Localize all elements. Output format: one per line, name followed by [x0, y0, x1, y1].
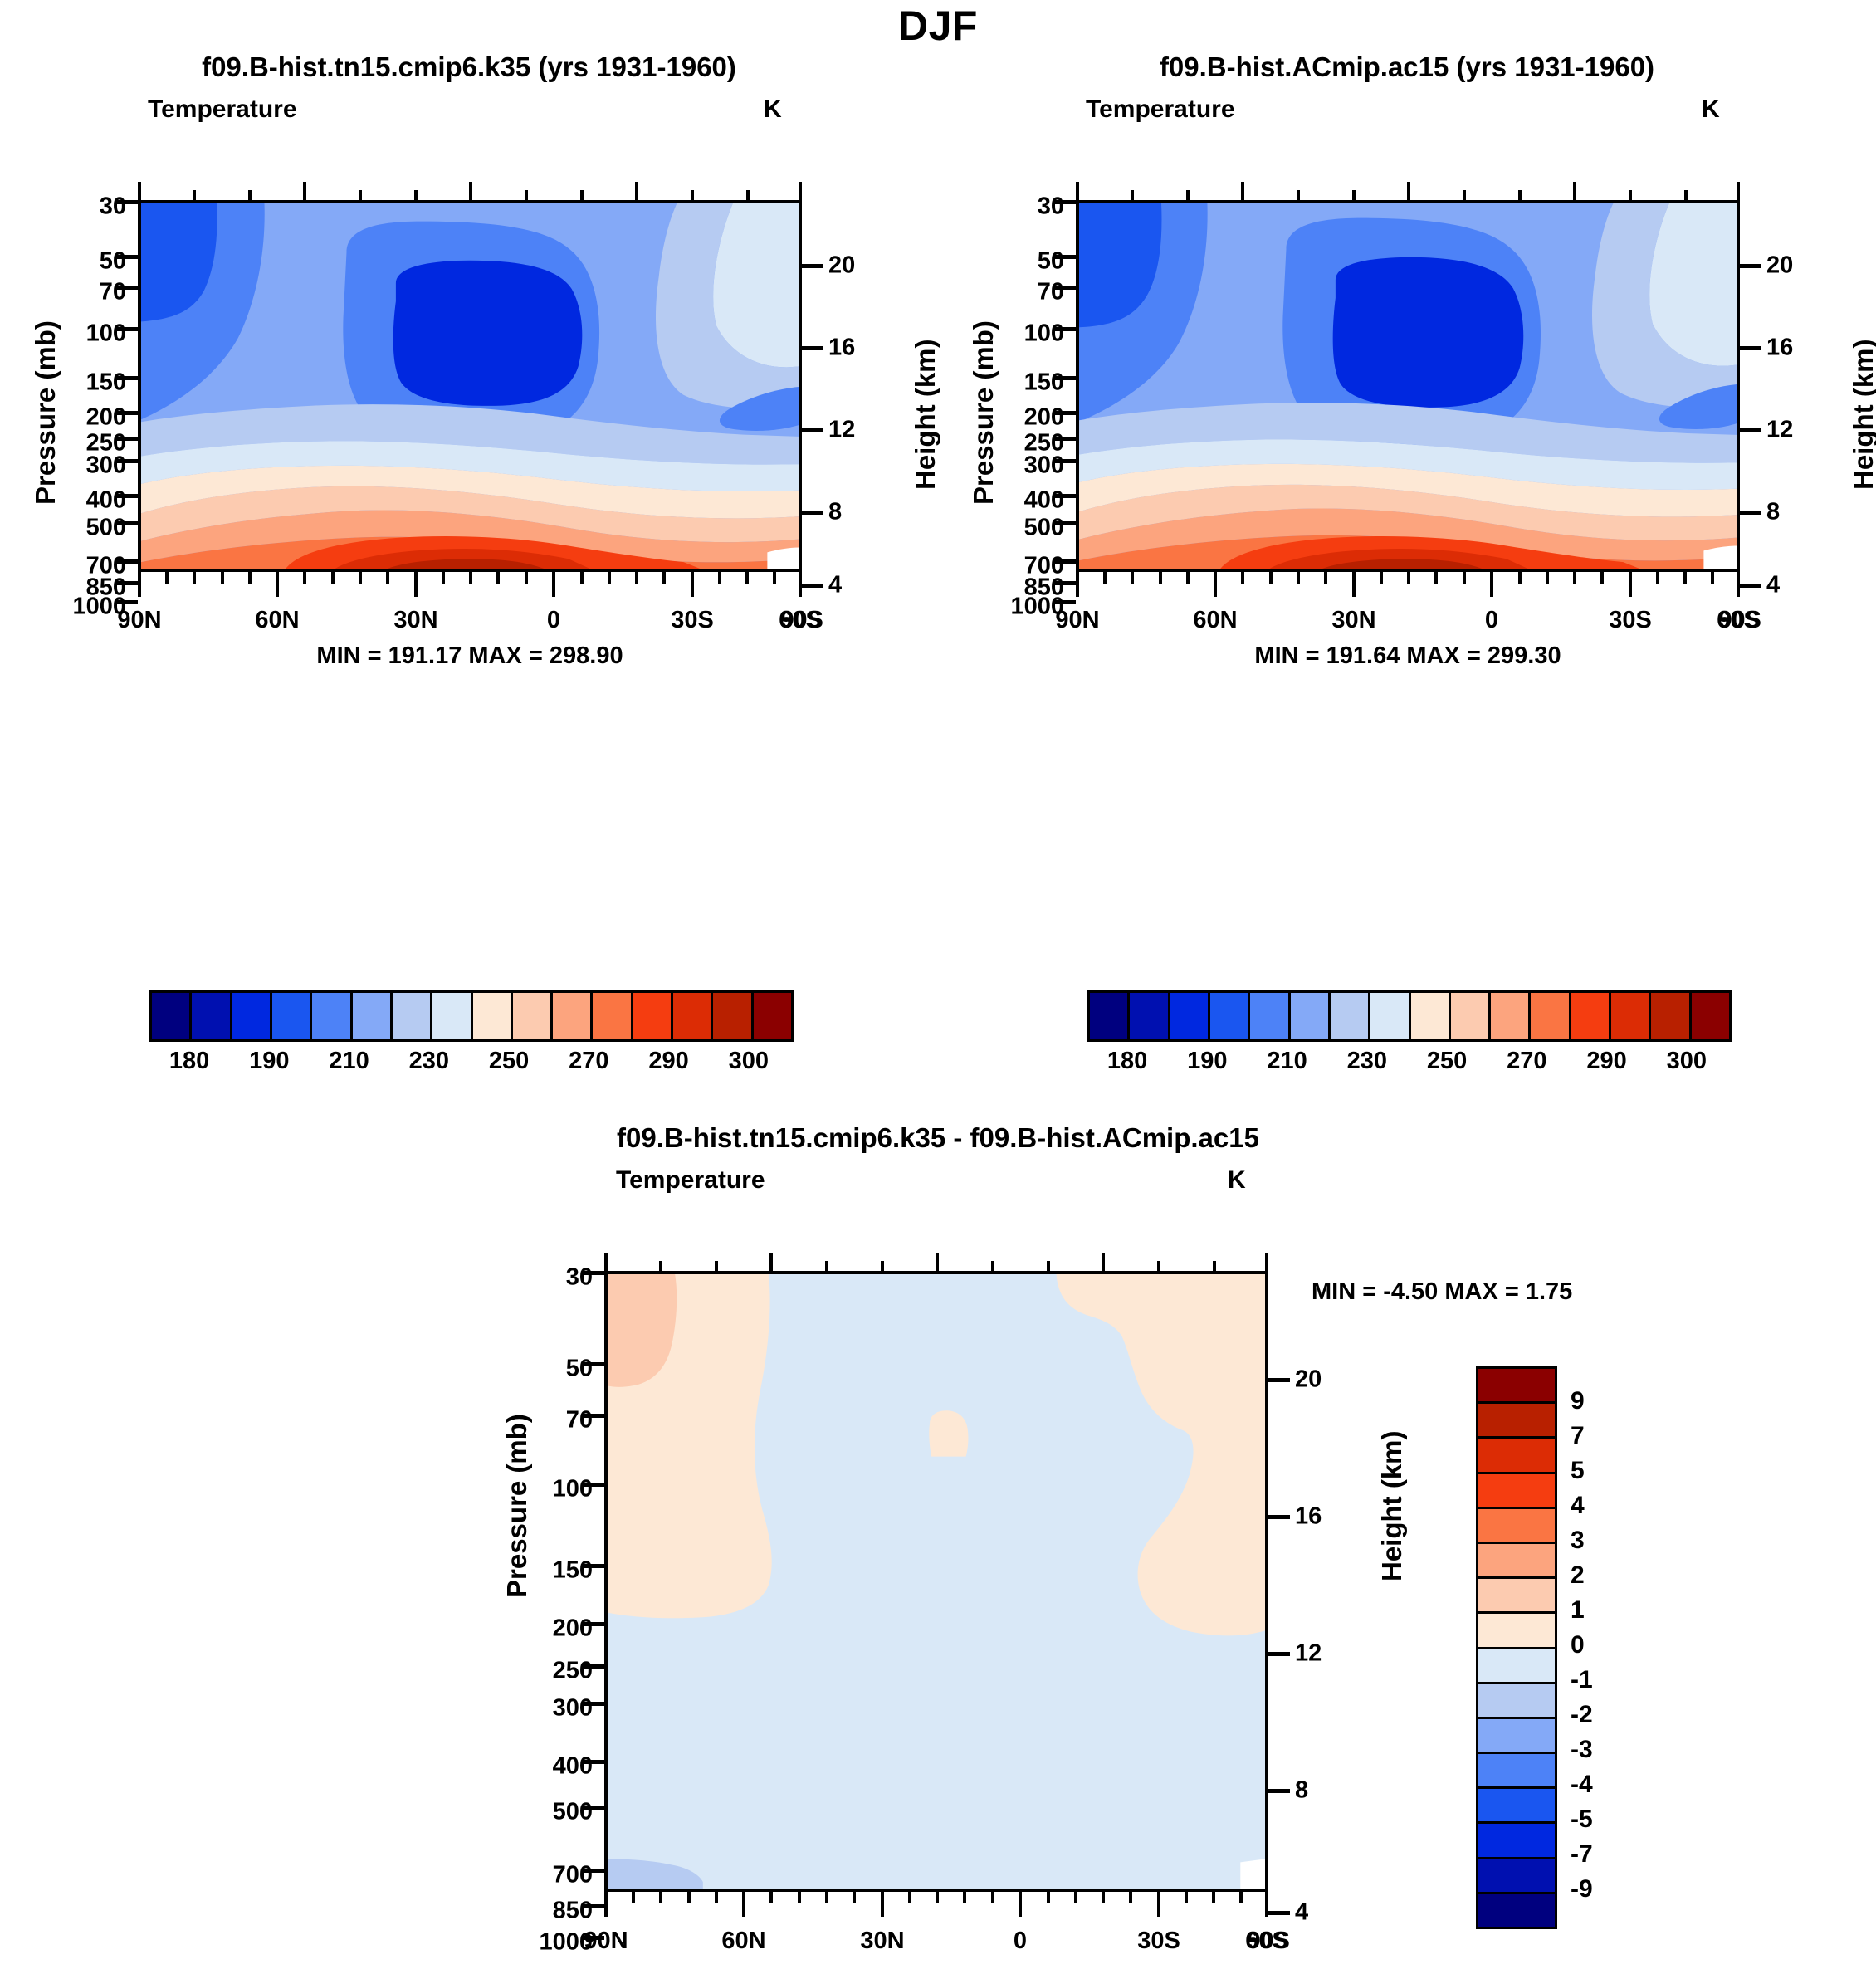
panel-top-left-height-axis-name: Height (km)	[910, 340, 941, 491]
ytick-150: 150	[988, 369, 1064, 397]
colorbar-swatch-11	[593, 993, 633, 1039]
ytick-50: 50	[516, 1356, 593, 1383]
diff-colorbar-swatch-12	[1478, 1789, 1555, 1824]
diff-colorbar-swatch-11	[1478, 1754, 1555, 1789]
ytick-200: 200	[50, 404, 126, 432]
ytick-70: 70	[50, 279, 126, 306]
ytick-200: 200	[988, 404, 1064, 432]
xtick-60N: 60N	[1193, 607, 1237, 634]
ytick-100: 100	[988, 320, 1064, 348]
diff-colorbar-swatch-6	[1478, 1579, 1555, 1614]
panel-bottom-diff-colorbar-labels: 97543210-1-2-3-4-5-7-9	[1571, 1366, 1645, 1924]
colorbar-tick-180: 180	[169, 1048, 209, 1075]
panel-top-left-colorbar	[149, 990, 794, 1042]
ytick-30: 30	[988, 193, 1064, 221]
htick-20: 20	[828, 252, 855, 280]
colorbar-swatch-13	[1611, 993, 1651, 1039]
diff-colorbar-swatch-7	[1478, 1614, 1555, 1649]
ytick-100: 100	[516, 1476, 593, 1503]
ytick-1000: 1000	[963, 594, 1064, 621]
htick-4: 4	[1295, 1899, 1308, 1927]
htick-20: 20	[1295, 1366, 1322, 1394]
panel-bottom-diff-plot	[604, 1271, 1268, 1892]
ytick-30: 30	[516, 1264, 593, 1292]
htick-16: 16	[1295, 1503, 1322, 1531]
panel-top-left-title: f09.B-hist.tn15.cmip6.k35 (yrs 1931-1960…	[0, 51, 938, 83]
htick-16: 16	[1766, 335, 1793, 362]
xtick-30N: 30N	[1331, 607, 1375, 634]
colorbar-swatch-10	[1491, 993, 1531, 1039]
diff-colorbar-tick-3: 3	[1571, 1527, 1585, 1555]
diff-colorbar-tick-neg5: -5	[1571, 1806, 1593, 1834]
panel-bottom-diff-unit-label: K	[1228, 1166, 1246, 1195]
colorbar-tick-190: 190	[249, 1048, 289, 1075]
ytick-100: 100	[50, 320, 126, 348]
diff-colorbar-tick-0: 0	[1571, 1631, 1585, 1659]
panel-top-right-height-axis-name: Height (km)	[1848, 340, 1876, 491]
colorbar-swatch-4	[1250, 993, 1290, 1039]
panel-top-left-unit-label: K	[764, 95, 782, 124]
xtick-30S: 30S	[1137, 1928, 1180, 1955]
colorbar-tick-250: 250	[1427, 1048, 1467, 1075]
diff-colorbar-tick-5: 5	[1571, 1457, 1585, 1485]
htick-8: 8	[1295, 1777, 1308, 1805]
panel-top-right-colorbar-labels: 180190210230250270290300	[1087, 1048, 1727, 1077]
ytick-30: 30	[50, 193, 126, 221]
colorbar-swatch-2	[1170, 993, 1210, 1039]
htick-4: 4	[1766, 572, 1780, 599]
ytick-300: 300	[50, 452, 126, 480]
colorbar-tick-210: 210	[1267, 1048, 1307, 1075]
ytick-250: 250	[516, 1658, 593, 1685]
diff-colorbar-swatch-2	[1478, 1439, 1555, 1473]
xtick-0: 0	[547, 607, 560, 634]
htick-12: 12	[828, 417, 855, 444]
panel-bottom-diff-title: f09.B-hist.tn15.cmip6.k35 - f09.B-hist.A…	[315, 1122, 1561, 1154]
colorbar-swatch-9	[1451, 993, 1491, 1039]
colorbar-swatch-15	[1692, 993, 1729, 1039]
colorbar-swatch-0	[152, 993, 192, 1039]
diff-colorbar-swatch-14	[1478, 1859, 1555, 1894]
colorbar-swatch-3	[1210, 993, 1250, 1039]
diff-colorbar-swatch-5	[1478, 1544, 1555, 1579]
colorbar-tick-190: 190	[1187, 1048, 1227, 1075]
colorbar-swatch-8	[473, 993, 513, 1039]
colorbar-swatch-1	[1130, 993, 1170, 1039]
diff-colorbar-tick-7: 7	[1571, 1422, 1585, 1450]
colorbar-swatch-7	[1370, 993, 1410, 1039]
ytick-500: 500	[988, 515, 1064, 542]
colorbar-swatch-8	[1411, 993, 1451, 1039]
colorbar-tick-270: 270	[1507, 1048, 1546, 1075]
colorbar-swatch-0	[1090, 993, 1130, 1039]
colorbar-swatch-9	[513, 993, 553, 1039]
xtick-30S: 30S	[671, 607, 714, 634]
colorbar-swatch-12	[633, 993, 673, 1039]
htick-12: 12	[1766, 417, 1793, 444]
panel-bottom-diff-minmax: MIN = -4.50 MAX = 1.75	[1312, 1278, 1826, 1306]
ytick-400: 400	[50, 487, 126, 515]
panel-top-left-xtick-90S: 90S	[780, 607, 823, 634]
xtick-0: 0	[1014, 1928, 1027, 1955]
panel-top-left-plot	[138, 200, 802, 572]
colorbar-tick-210: 210	[329, 1048, 369, 1075]
colorbar-tick-290: 290	[1586, 1048, 1626, 1075]
ytick-50: 50	[988, 248, 1064, 276]
panel-top-right-minmax: MIN = 191.64 MAX = 299.30	[1076, 643, 1740, 670]
diff-colorbar-swatch-13	[1478, 1824, 1555, 1859]
ytick-70: 70	[516, 1407, 593, 1434]
colorbar-swatch-12	[1571, 993, 1611, 1039]
htick-16: 16	[828, 335, 855, 362]
ytick-300: 300	[516, 1695, 593, 1722]
htick-8: 8	[1766, 499, 1780, 526]
colorbar-swatch-15	[754, 993, 791, 1039]
figure-title: DJF	[0, 2, 1876, 50]
colorbar-swatch-1	[192, 993, 232, 1039]
colorbar-swatch-5	[353, 993, 393, 1039]
colorbar-swatch-6	[393, 993, 432, 1039]
diff-colorbar-swatch-4	[1478, 1509, 1555, 1544]
diff-colorbar-swatch-9	[1478, 1684, 1555, 1719]
diff-colorbar-tick-2: 2	[1571, 1561, 1585, 1590]
panel-bottom-diff-height-axis-name: Height (km)	[1376, 1431, 1408, 1582]
panel-top-right-plot	[1076, 200, 1740, 572]
colorbar-tick-230: 230	[1347, 1048, 1387, 1075]
ytick-1000: 1000	[491, 1929, 593, 1957]
ytick-700: 700	[516, 1862, 593, 1889]
colorbar-swatch-6	[1331, 993, 1370, 1039]
colorbar-swatch-14	[713, 993, 753, 1039]
colorbar-tick-300: 300	[1667, 1048, 1707, 1075]
panel-bottom-diff-colorbar	[1476, 1366, 1557, 1929]
panel-bottom-diff-variable-label: Temperature	[616, 1166, 765, 1195]
ytick-400: 400	[988, 487, 1064, 515]
diff-colorbar-swatch-1	[1478, 1404, 1555, 1439]
colorbar-tick-300: 300	[729, 1048, 769, 1075]
diff-colorbar-tick-neg2: -2	[1571, 1701, 1593, 1729]
diff-colorbar-tick-neg9: -9	[1571, 1875, 1593, 1903]
panel-top-right-colorbar	[1087, 990, 1732, 1042]
panel-top-right-xtick-90S: 90S	[1718, 607, 1761, 634]
xtick-90N: 90N	[584, 1928, 628, 1955]
diff-colorbar-swatch-15	[1478, 1894, 1555, 1927]
htick-4: 4	[828, 572, 842, 599]
colorbar-swatch-5	[1291, 993, 1331, 1039]
panel-top-right-variable-label: Temperature	[1086, 95, 1235, 124]
panel-top-left-colorbar-labels: 180190210230250270290300	[149, 1048, 789, 1077]
htick-12: 12	[1295, 1640, 1322, 1668]
ytick-70: 70	[988, 279, 1064, 306]
colorbar-swatch-10	[553, 993, 593, 1039]
ytick-50: 50	[50, 248, 126, 276]
xtick-30S: 30S	[1609, 607, 1652, 634]
ytick-500: 500	[50, 515, 126, 542]
xtick-0: 0	[1485, 607, 1498, 634]
ytick-300: 300	[988, 452, 1064, 480]
xtick-60N: 60N	[255, 607, 299, 634]
diff-colorbar-swatch-0	[1478, 1369, 1555, 1404]
htick-20: 20	[1766, 252, 1793, 280]
colorbar-tick-290: 290	[648, 1048, 688, 1075]
colorbar-swatch-2	[232, 993, 272, 1039]
diff-colorbar-swatch-8	[1478, 1649, 1555, 1684]
diff-colorbar-tick-neg3: -3	[1571, 1736, 1593, 1764]
colorbar-tick-180: 180	[1107, 1048, 1147, 1075]
colorbar-tick-230: 230	[409, 1048, 449, 1075]
xtick-90N: 90N	[117, 607, 161, 634]
colorbar-swatch-7	[432, 993, 472, 1039]
colorbar-swatch-4	[312, 993, 352, 1039]
diff-colorbar-tick-neg1: -1	[1571, 1666, 1593, 1694]
xtick-60N: 60N	[721, 1928, 765, 1955]
colorbar-swatch-3	[272, 993, 312, 1039]
ytick-500: 500	[516, 1799, 593, 1826]
htick-8: 8	[828, 499, 842, 526]
diff-colorbar-swatch-3	[1478, 1474, 1555, 1509]
panel-top-right-unit-label: K	[1702, 95, 1720, 124]
colorbar-swatch-11	[1531, 993, 1571, 1039]
xtick-30N: 30N	[393, 607, 437, 634]
diff-colorbar-tick-neg7: -7	[1571, 1840, 1593, 1869]
ytick-400: 400	[516, 1753, 593, 1781]
xtick-90N: 90N	[1055, 607, 1099, 634]
diff-colorbar-tick-4: 4	[1571, 1492, 1585, 1520]
colorbar-tick-270: 270	[569, 1048, 608, 1075]
panel-top-right-title: f09.B-hist.ACmip.ac15 (yrs 1931-1960)	[938, 51, 1876, 83]
panel-top-left-variable-label: Temperature	[148, 95, 297, 124]
ytick-150: 150	[50, 369, 126, 397]
ytick-200: 200	[516, 1615, 593, 1643]
colorbar-swatch-13	[673, 993, 713, 1039]
panel-bottom-diff-xtick-90S: 90S	[1247, 1928, 1290, 1955]
diff-colorbar-tick-neg4: -4	[1571, 1771, 1593, 1799]
diff-colorbar-tick-9: 9	[1571, 1387, 1585, 1415]
colorbar-swatch-14	[1651, 993, 1691, 1039]
colorbar-tick-250: 250	[489, 1048, 529, 1075]
ytick-150: 150	[516, 1557, 593, 1585]
diff-colorbar-tick-1: 1	[1571, 1596, 1585, 1625]
ytick-850: 850	[506, 1898, 593, 1925]
diff-colorbar-swatch-10	[1478, 1719, 1555, 1754]
xtick-30N: 30N	[860, 1928, 904, 1955]
panel-top-left-minmax: MIN = 191.17 MAX = 298.90	[138, 643, 802, 670]
ytick-1000: 1000	[25, 594, 126, 621]
